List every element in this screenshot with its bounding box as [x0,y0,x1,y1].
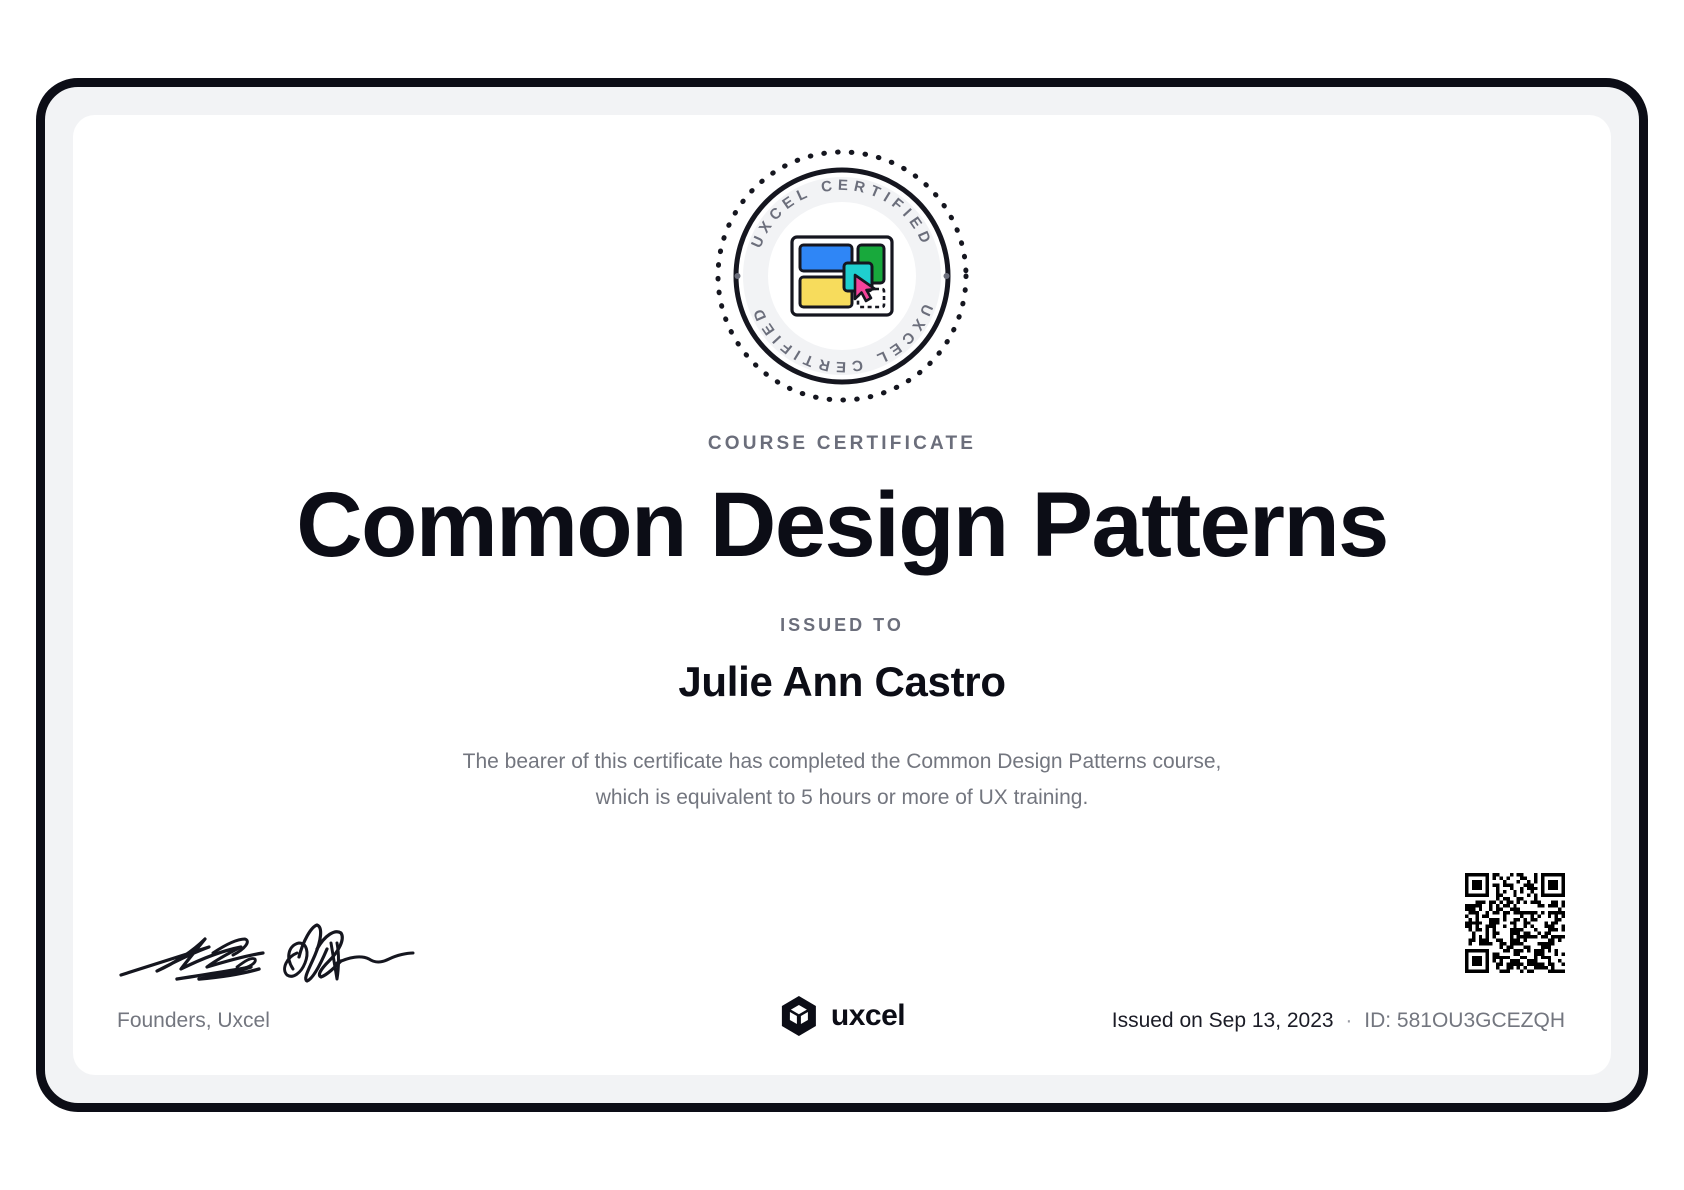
issue-date: Issued on Sep 13, 2023 [1112,1009,1334,1032]
issue-metadata: Issued on Sep 13, 2023 · ID: 581OU3GCEZQ… [1112,1009,1565,1033]
certificate-frame: UXCEL CERTIFIED UXCEL CERTIFIED [36,78,1648,1112]
founder-signatures [117,909,417,989]
signature-caption: Founders, Uxcel [117,1009,270,1033]
certification-seal: UXCEL CERTIFIED UXCEL CERTIFIED [711,145,973,407]
meta-separator: · [1339,1009,1358,1032]
certificate-footer: Founders, Uxcel uxcel [73,891,1611,1051]
certificate-card: UXCEL CERTIFIED UXCEL CERTIFIED [73,115,1611,1075]
uxcel-logo: uxcel [779,995,905,1037]
issued-to-label: ISSUED TO [780,615,904,636]
certificate-id: ID: 581OU3GCEZQH [1364,1009,1565,1032]
layout-blocks-cursor-icon [792,237,892,315]
certificate-description: The bearer of this certificate has compl… [462,744,1222,816]
seal-bullet-left [735,273,741,279]
recipient-name: Julie Ann Castro [678,658,1005,706]
uxcel-hexagon-cube-logo [779,995,819,1037]
certificate-page: UXCEL CERTIFIED UXCEL CERTIFIED [0,0,1684,1190]
eyebrow-label: COURSE CERTIFICATE [708,433,976,455]
brand-wordmark: uxcel [831,999,905,1033]
seal-bullet-right [944,273,950,279]
verification-qr-code[interactable] [1465,873,1565,973]
page-title: Common Design Patterns [296,479,1388,571]
